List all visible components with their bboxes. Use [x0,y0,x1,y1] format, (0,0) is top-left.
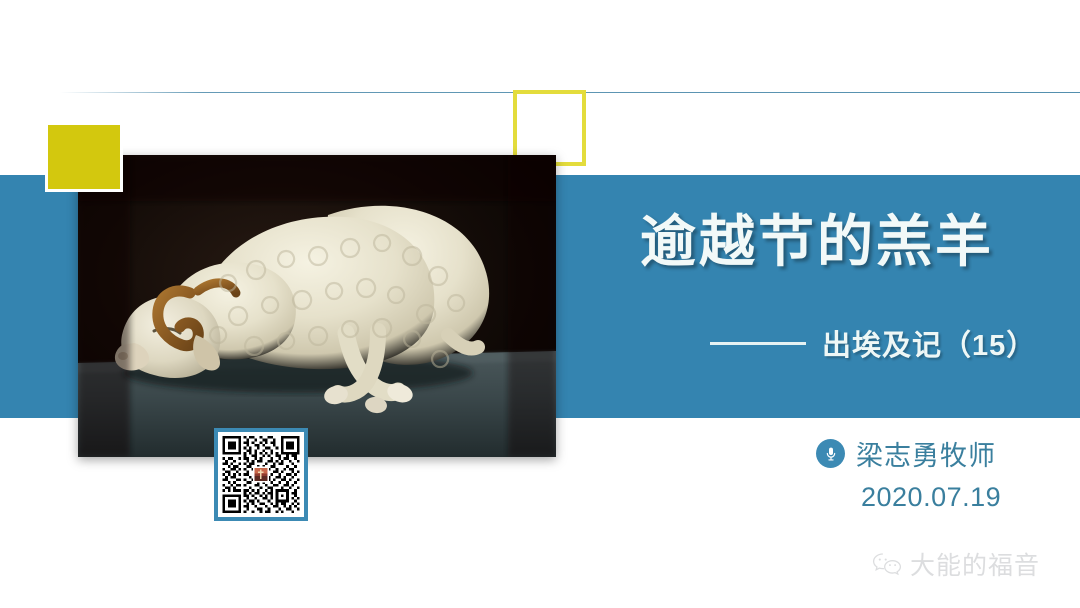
qr-code-matrix [222,436,300,513]
subtitle-text: 出埃及记（15） [822,322,1036,364]
presentation-slide: 逾越节的羔羊 出埃及记（15） 梁志勇牧师 2020.07.19 [0,0,1080,608]
page-title: 逾越节的羔羊 [640,208,1020,276]
lamb-illustration [78,155,556,457]
subtitle-dash-rule [710,342,806,345]
presentation-date: 2020.07.19 [861,482,1001,513]
yellow-solid-square [45,122,123,192]
speaker-name: 梁志勇牧师 [856,434,996,473]
subtitle-row: 出埃及记（15） [710,322,1036,364]
watermark-text: 大能的福音 [910,546,1040,582]
wechat-icon [872,552,910,576]
watermark: 大能的福音 [872,546,1040,582]
microphone-icon [816,439,845,468]
qr-code[interactable] [214,428,308,521]
speaker-row: 梁志勇牧师 [816,434,996,473]
lamb-photo [78,155,556,457]
